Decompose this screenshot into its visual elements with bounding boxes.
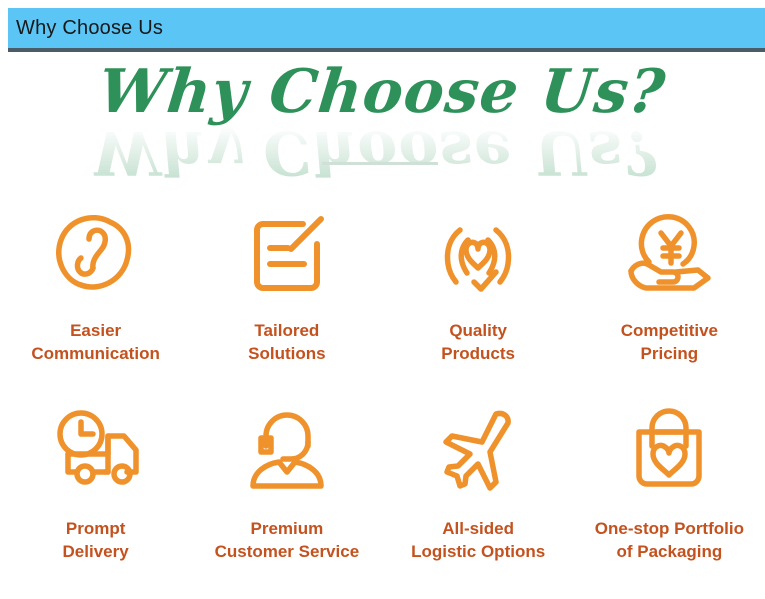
shopping-bag-heart-icon <box>617 398 721 502</box>
feature-label: Premium Customer Service <box>213 518 362 564</box>
document-with-pen-icon <box>235 202 339 306</box>
hero-heading-reflection: Why Choose Us? <box>90 122 663 182</box>
feature-label: Tailored Solutions <box>246 320 327 366</box>
headset-agent-icon <box>235 398 339 502</box>
feature-label: Prompt Delivery <box>61 518 131 564</box>
feature-item-one-stop-portfolio[interactable]: One-stop Portfolio of Packaging <box>574 392 765 588</box>
delivery-truck-clock-icon <box>44 398 148 502</box>
page-root: Why Choose Us Why Choose Us? Why Choose … <box>0 0 765 599</box>
feature-item-quality-products[interactable]: Quality Products <box>383 196 574 392</box>
heart-waves-check-icon <box>426 202 530 306</box>
airplane-icon <box>426 398 530 502</box>
window-title: Why Choose Us <box>16 18 163 38</box>
feature-grid: Easier Communication Tailored Solutions <box>0 196 765 588</box>
hero-heading-text: Why Choose Us? <box>96 57 670 127</box>
feature-item-easier-communication[interactable]: Easier Communication <box>0 196 191 392</box>
feature-item-prompt-delivery[interactable]: Prompt Delivery <box>0 392 191 588</box>
feature-item-tailored-solutions[interactable]: Tailored Solutions <box>191 196 382 392</box>
window-titlebar: Why Choose Us <box>8 8 765 52</box>
hero-heading: Why Choose Us? Why Choose Us? <box>96 62 669 122</box>
feature-item-competitive-pricing[interactable]: Competitive Pricing <box>574 196 765 392</box>
feature-label: All-sided Logistic Options <box>409 518 547 564</box>
feature-label: One-stop Portfolio of Packaging <box>593 518 746 564</box>
ear-in-circle-icon <box>44 202 148 306</box>
hero-divider <box>322 162 438 165</box>
feature-label: Competitive Pricing <box>619 320 720 366</box>
feature-item-all-sided-logistic-options[interactable]: All-sided Logistic Options <box>383 392 574 588</box>
feature-label: Quality Products <box>439 320 517 366</box>
feature-label: Easier Communication <box>29 320 161 366</box>
feature-item-premium-customer-service[interactable]: Premium Customer Service <box>191 392 382 588</box>
hand-holding-yen-coin-icon <box>617 202 721 306</box>
hero-heading-container: Why Choose Us? Why Choose Us? <box>0 62 765 172</box>
